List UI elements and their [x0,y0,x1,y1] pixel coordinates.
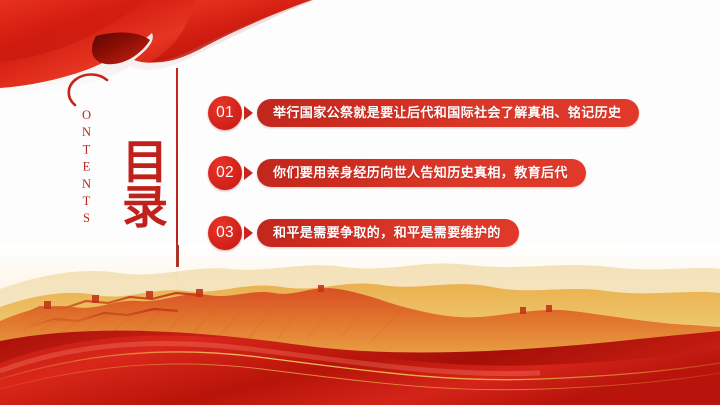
presentation-slide: ONTENTS 目录 01 举行国家公祭就是要让后代和国际社会了解真相、铭记历史… [0,0,720,405]
list-item[interactable]: 01 举行国家公祭就是要让后代和国际社会了解真相、铭记历史 [208,95,648,131]
arrow-right-icon [244,226,253,240]
item-bar[interactable]: 举行国家公祭就是要让后代和国际社会了解真相、铭记历史 [257,99,639,127]
contents-vertical-label: ONTENTS [80,108,93,228]
arrow-right-icon [244,166,253,180]
arrow-right-icon [244,106,253,120]
list-item[interactable]: 03 和平是需要争取的，和平是需要维护的 [208,215,648,251]
contents-title-block: ONTENTS 目录 [56,62,186,277]
list-item[interactable]: 02 你们要用亲身经历向世人告知历史真相，教育后代 [208,155,648,191]
item-number-badge: 01 [208,96,242,130]
item-bar[interactable]: 和平是需要争取的，和平是需要维护的 [257,219,519,247]
item-label: 举行国家公祭就是要让后代和国际社会了解真相、铭记历史 [273,107,621,120]
item-number-badge: 02 [208,156,242,190]
contents-list: 01 举行国家公祭就是要让后代和国际社会了解真相、铭记历史 02 你们要用亲身经… [208,95,648,275]
vertical-divider [176,68,178,283]
page-title-cn: 目录 [114,140,176,230]
item-label: 你们要用亲身经历向世人告知历史真相，教育后代 [273,167,568,180]
decorative-c-letter [62,64,112,114]
item-bar[interactable]: 你们要用亲身经历向世人告知历史真相，教育后代 [257,159,586,187]
item-number-badge: 03 [208,216,242,250]
item-label: 和平是需要争取的，和平是需要维护的 [273,227,501,240]
